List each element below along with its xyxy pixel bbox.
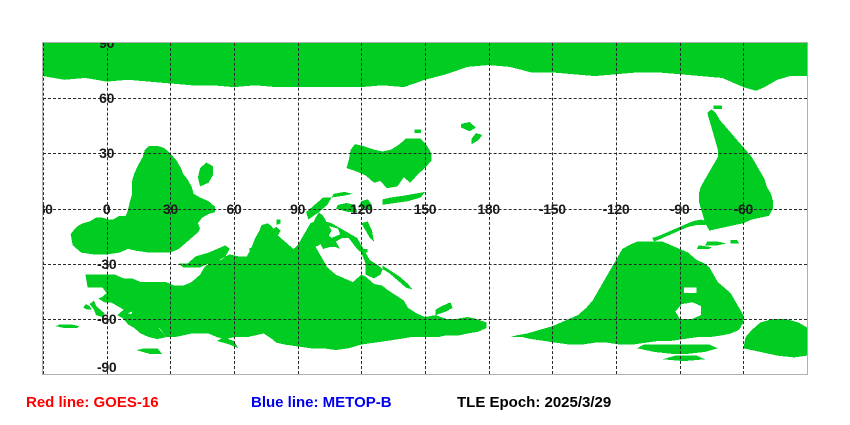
satellite-ground-track-page: -30 0 30 60 90 120 150 180 -150 -120 -90… [0, 0, 850, 425]
legend-metopb: Blue line: METOP-B [251, 394, 392, 411]
satellite-overlay-layer [43, 43, 807, 374]
legend-caption-bar: Red line: GOES-16 Blue line: METOP-B TLE… [0, 383, 850, 425]
legend-goes16: Red line: GOES-16 [26, 394, 159, 411]
tle-epoch-label: TLE Epoch: 2025/3/29 [457, 394, 611, 411]
world-map-plot: -30 0 30 60 90 120 150 180 -150 -120 -90… [42, 42, 808, 375]
